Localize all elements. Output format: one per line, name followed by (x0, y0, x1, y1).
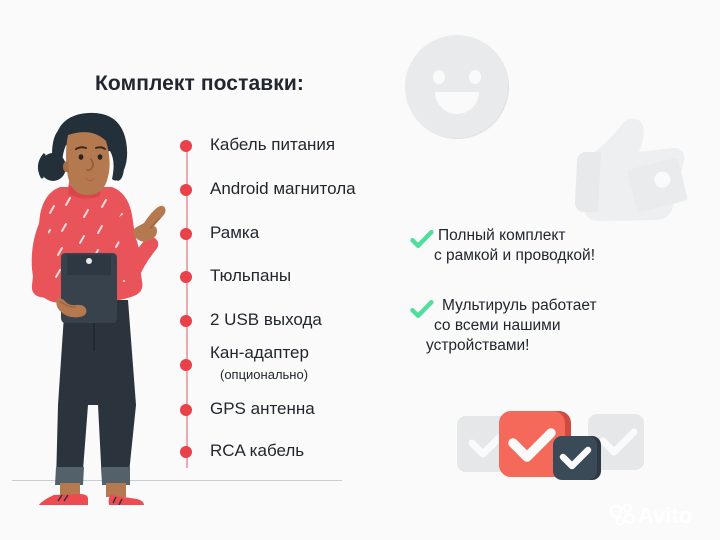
watermark-text: Avito (638, 503, 692, 528)
note-text: Полный комплект с рамкой и проводкой! (438, 226, 595, 266)
bullet-dot (180, 315, 192, 327)
bullet-dot (180, 446, 192, 458)
bullet-dot (180, 404, 192, 416)
note-line: устройствами! (426, 336, 597, 356)
note-line: Полный комплект (438, 226, 595, 246)
bullet-dot (180, 228, 192, 240)
list-item-label: Кабель питания (210, 136, 335, 154)
poster-canvas: Комплект поставки: Кабель питания Androi… (0, 0, 720, 540)
page-title: Комплект поставки: (95, 72, 304, 96)
avito-watermark: Avito (608, 500, 712, 530)
green-check-icon (410, 228, 434, 252)
list-item-label: Тюльпаны (210, 267, 291, 285)
list-item-label: RCA кабель (210, 442, 304, 460)
green-check-icon (410, 298, 434, 322)
list-item-label: 2 USB выхода (210, 311, 322, 329)
thumbs-up-icon (565, 105, 695, 230)
note-line: Мультируль работает (442, 296, 597, 316)
note-line: со всеми нашими (434, 316, 597, 336)
bullet-dot (180, 359, 192, 371)
note-line: с рамкой и проводкой! (434, 246, 595, 266)
smiley-face-icon (402, 32, 512, 142)
list-item-sublabel: (опционально) (220, 367, 308, 382)
note-text: Мультируль работает со всеми нашими устр… (442, 296, 597, 355)
ground-line (12, 480, 342, 481)
bullet-dot (180, 140, 192, 152)
list-item-label: Android магнитола (210, 180, 356, 198)
checkbox-cards-icon (455, 398, 645, 493)
list-item-label: Кан-адаптер (210, 344, 309, 362)
list-item-label: Рамка (210, 224, 259, 242)
woman-pointing-illustration (10, 105, 185, 505)
bullet-dot (180, 184, 192, 196)
list-item-label: GPS антенна (210, 400, 315, 418)
bullet-dot (180, 271, 192, 283)
